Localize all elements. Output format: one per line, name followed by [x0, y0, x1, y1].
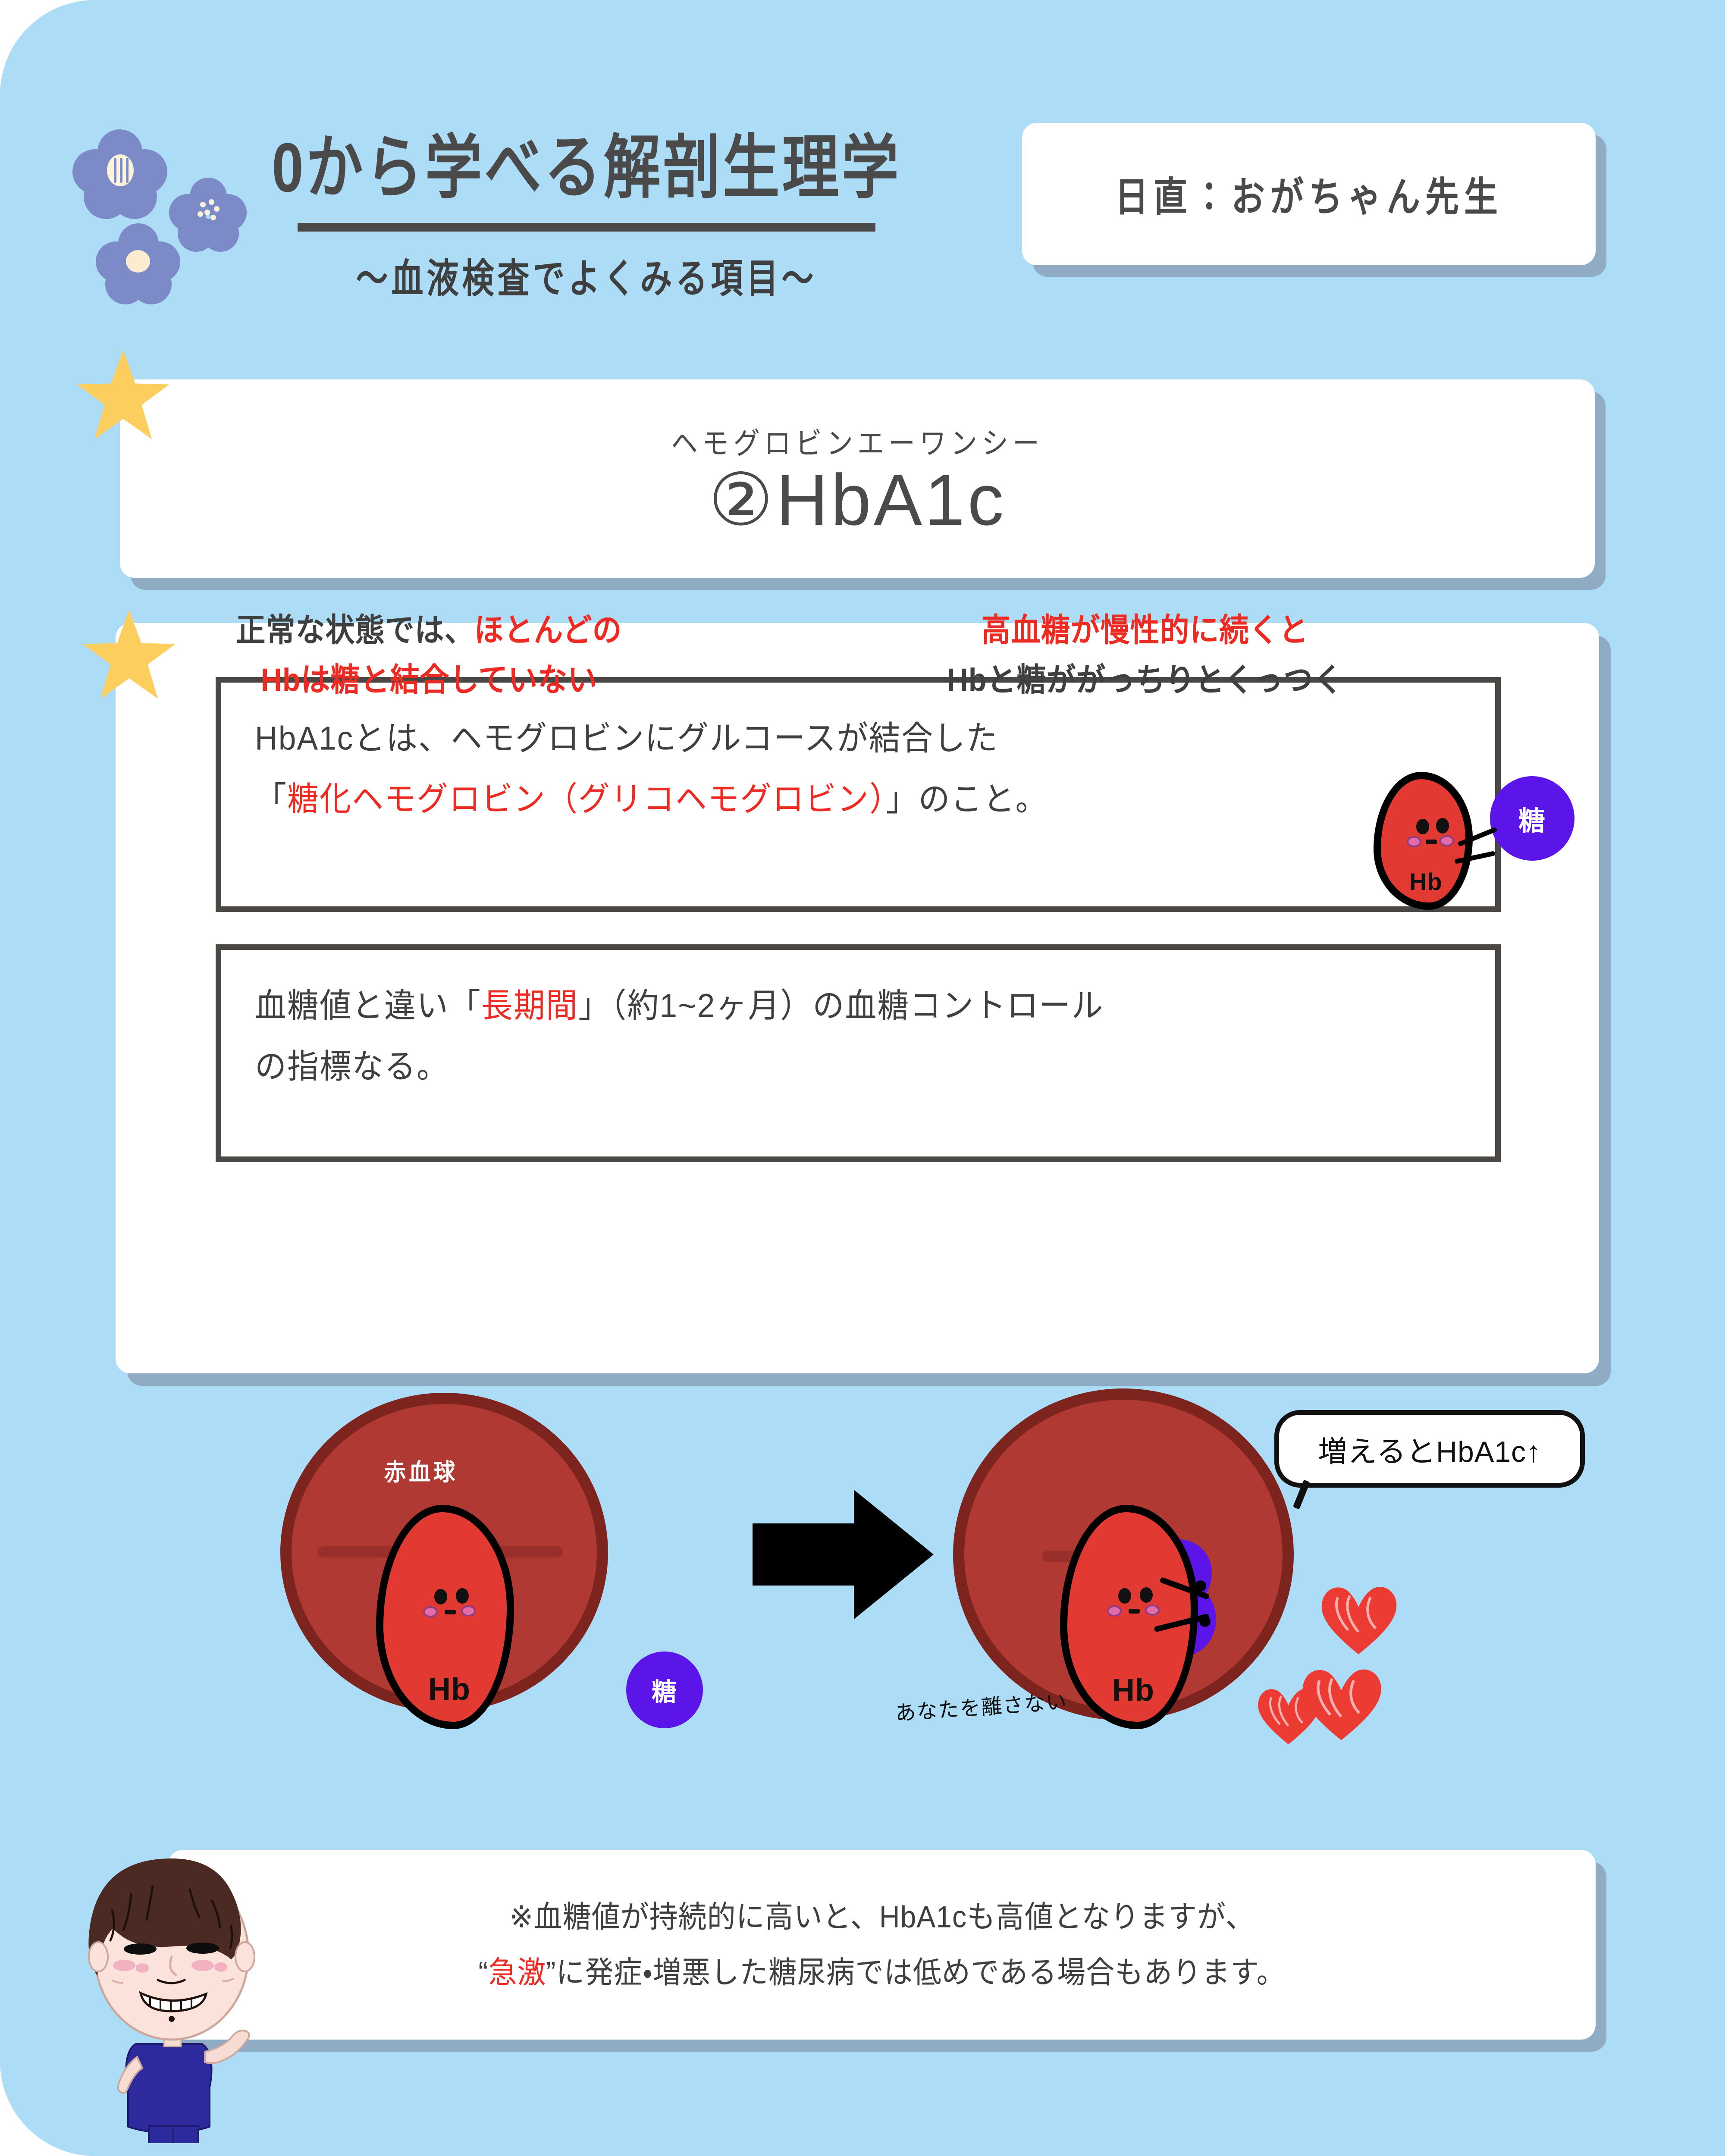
footer-highlight: 急激: [488, 1955, 546, 1989]
fact-line-plain: HbA1cとは、ヘモグロビンにグルコースが結合した: [255, 720, 998, 757]
title-underline: [298, 223, 875, 232]
heart-icon: [1253, 1682, 1324, 1747]
footer-content: ※血糖値が持続的に高いと、HbA1cも高値となりますが、 “急激”に発症・増悪し…: [168, 1850, 1596, 2040]
page-subtitle: ～血液検査でよくみる項目～: [241, 247, 931, 304]
heart-icon: [1315, 1578, 1402, 1658]
fact-box: HbA1cとは、ヘモグロビンにグルコースが結合した 「糖化ヘモグロビン（グリコヘ…: [216, 677, 1501, 912]
duty-badge-label: 日直：おがちゃん先生: [1022, 109, 1596, 279]
sugar-molecule-small: 糖: [1490, 776, 1574, 861]
flower-icon: [72, 129, 167, 220]
page-title: 0から学べる解剖生理学: [241, 129, 931, 206]
fact-text: HbA1cとは、ヘモグロビンにグルコースが結合した 「糖化ヘモグロビン（グリコヘ…: [255, 708, 1478, 830]
rbc-label: 赤血球: [384, 1453, 458, 1487]
diagram-normal-state: 赤血球 Hb 糖: [276, 1384, 707, 1772]
footer-quote-open: “: [478, 1955, 488, 1989]
caption-plain: 正常な状態では、: [236, 612, 474, 649]
footer-line-2: “急激”に発症・増悪した糖尿病では低めである場合もあります。: [478, 1943, 1285, 2002]
fact-line-plain: 」（約1~2ヶ月）の血糖コントロール: [578, 987, 1104, 1025]
fact-box: 血糖値と違い「長期間」（約1~2ヶ月）の血糖コントロール の指標なる。: [216, 944, 1501, 1162]
fact-text: 血糖値と違い「長期間」（約1~2ヶ月）の血糖コントロール の指標なる。: [255, 976, 1478, 1097]
speech-balloon-text: 増えるとHbA1c↑: [1318, 1428, 1541, 1470]
hb-label: Hb: [1112, 1673, 1154, 1708]
footer-line-1: ※血糖値が持続的に高いと、HbA1cも高値となりますが、: [509, 1887, 1254, 1947]
caption-highlight: ほとんどの: [474, 612, 622, 649]
teacher-avatar-icon: [60, 1841, 285, 2143]
flower-icon: [96, 223, 180, 304]
sugar-molecule: 糖: [626, 1651, 703, 1728]
fact-highlight: 糖化ヘモグロビン（グリコヘモグロビン）: [287, 780, 886, 818]
flower-icon: [169, 178, 247, 252]
heading-title: ②HbA1c: [709, 464, 1007, 536]
quote-close: 」のこと。: [886, 780, 1048, 818]
speech-balloon: 増えるとHbA1c↑: [1274, 1410, 1585, 1488]
hb-character: Hb: [1060, 1505, 1198, 1729]
hb-character-small: Hb: [1374, 772, 1473, 910]
quote-open: 「: [255, 780, 287, 818]
hb-label: Hb: [428, 1672, 470, 1707]
body-content: HbA1cとは、ヘモグロビンにグルコースが結合した 「糖化ヘモグロビン（グリコヘ…: [116, 623, 1599, 1373]
header-title-block: 0から学べる解剖生理学 ～血液検査でよくみる項目～: [241, 129, 931, 298]
comparison-caption-left: 正常な状態では、ほとんどの Hbは糖と結合していない: [142, 605, 716, 705]
heading-content: ヘモグロビンエーワンシー ②HbA1c: [120, 379, 1595, 578]
hb-label: Hb: [1409, 868, 1443, 896]
comparison-caption-right: 高血糖が慢性的に続くと Hbと糖ががっちりとくっつく: [858, 605, 1432, 705]
fact-highlight: 長期間: [481, 987, 578, 1025]
footer-plain: ”に発症・増悪した糖尿病では低めである場合もあります。: [546, 1955, 1285, 1989]
caption-highlight: 高血糖が慢性的に続くと: [858, 605, 1432, 655]
caption-plain: Hbと糖ががっちりとくっつく: [858, 655, 1432, 705]
hb-character: Hb: [376, 1505, 514, 1729]
fact-line-plain: 血糖値と違い「: [255, 987, 481, 1025]
fact-line-plain: の指標なる。: [255, 1048, 449, 1085]
caption-highlight: Hbは糖と結合していない: [142, 655, 716, 705]
heading-furigana: ヘモグロビンエーワンシー: [671, 419, 1044, 463]
